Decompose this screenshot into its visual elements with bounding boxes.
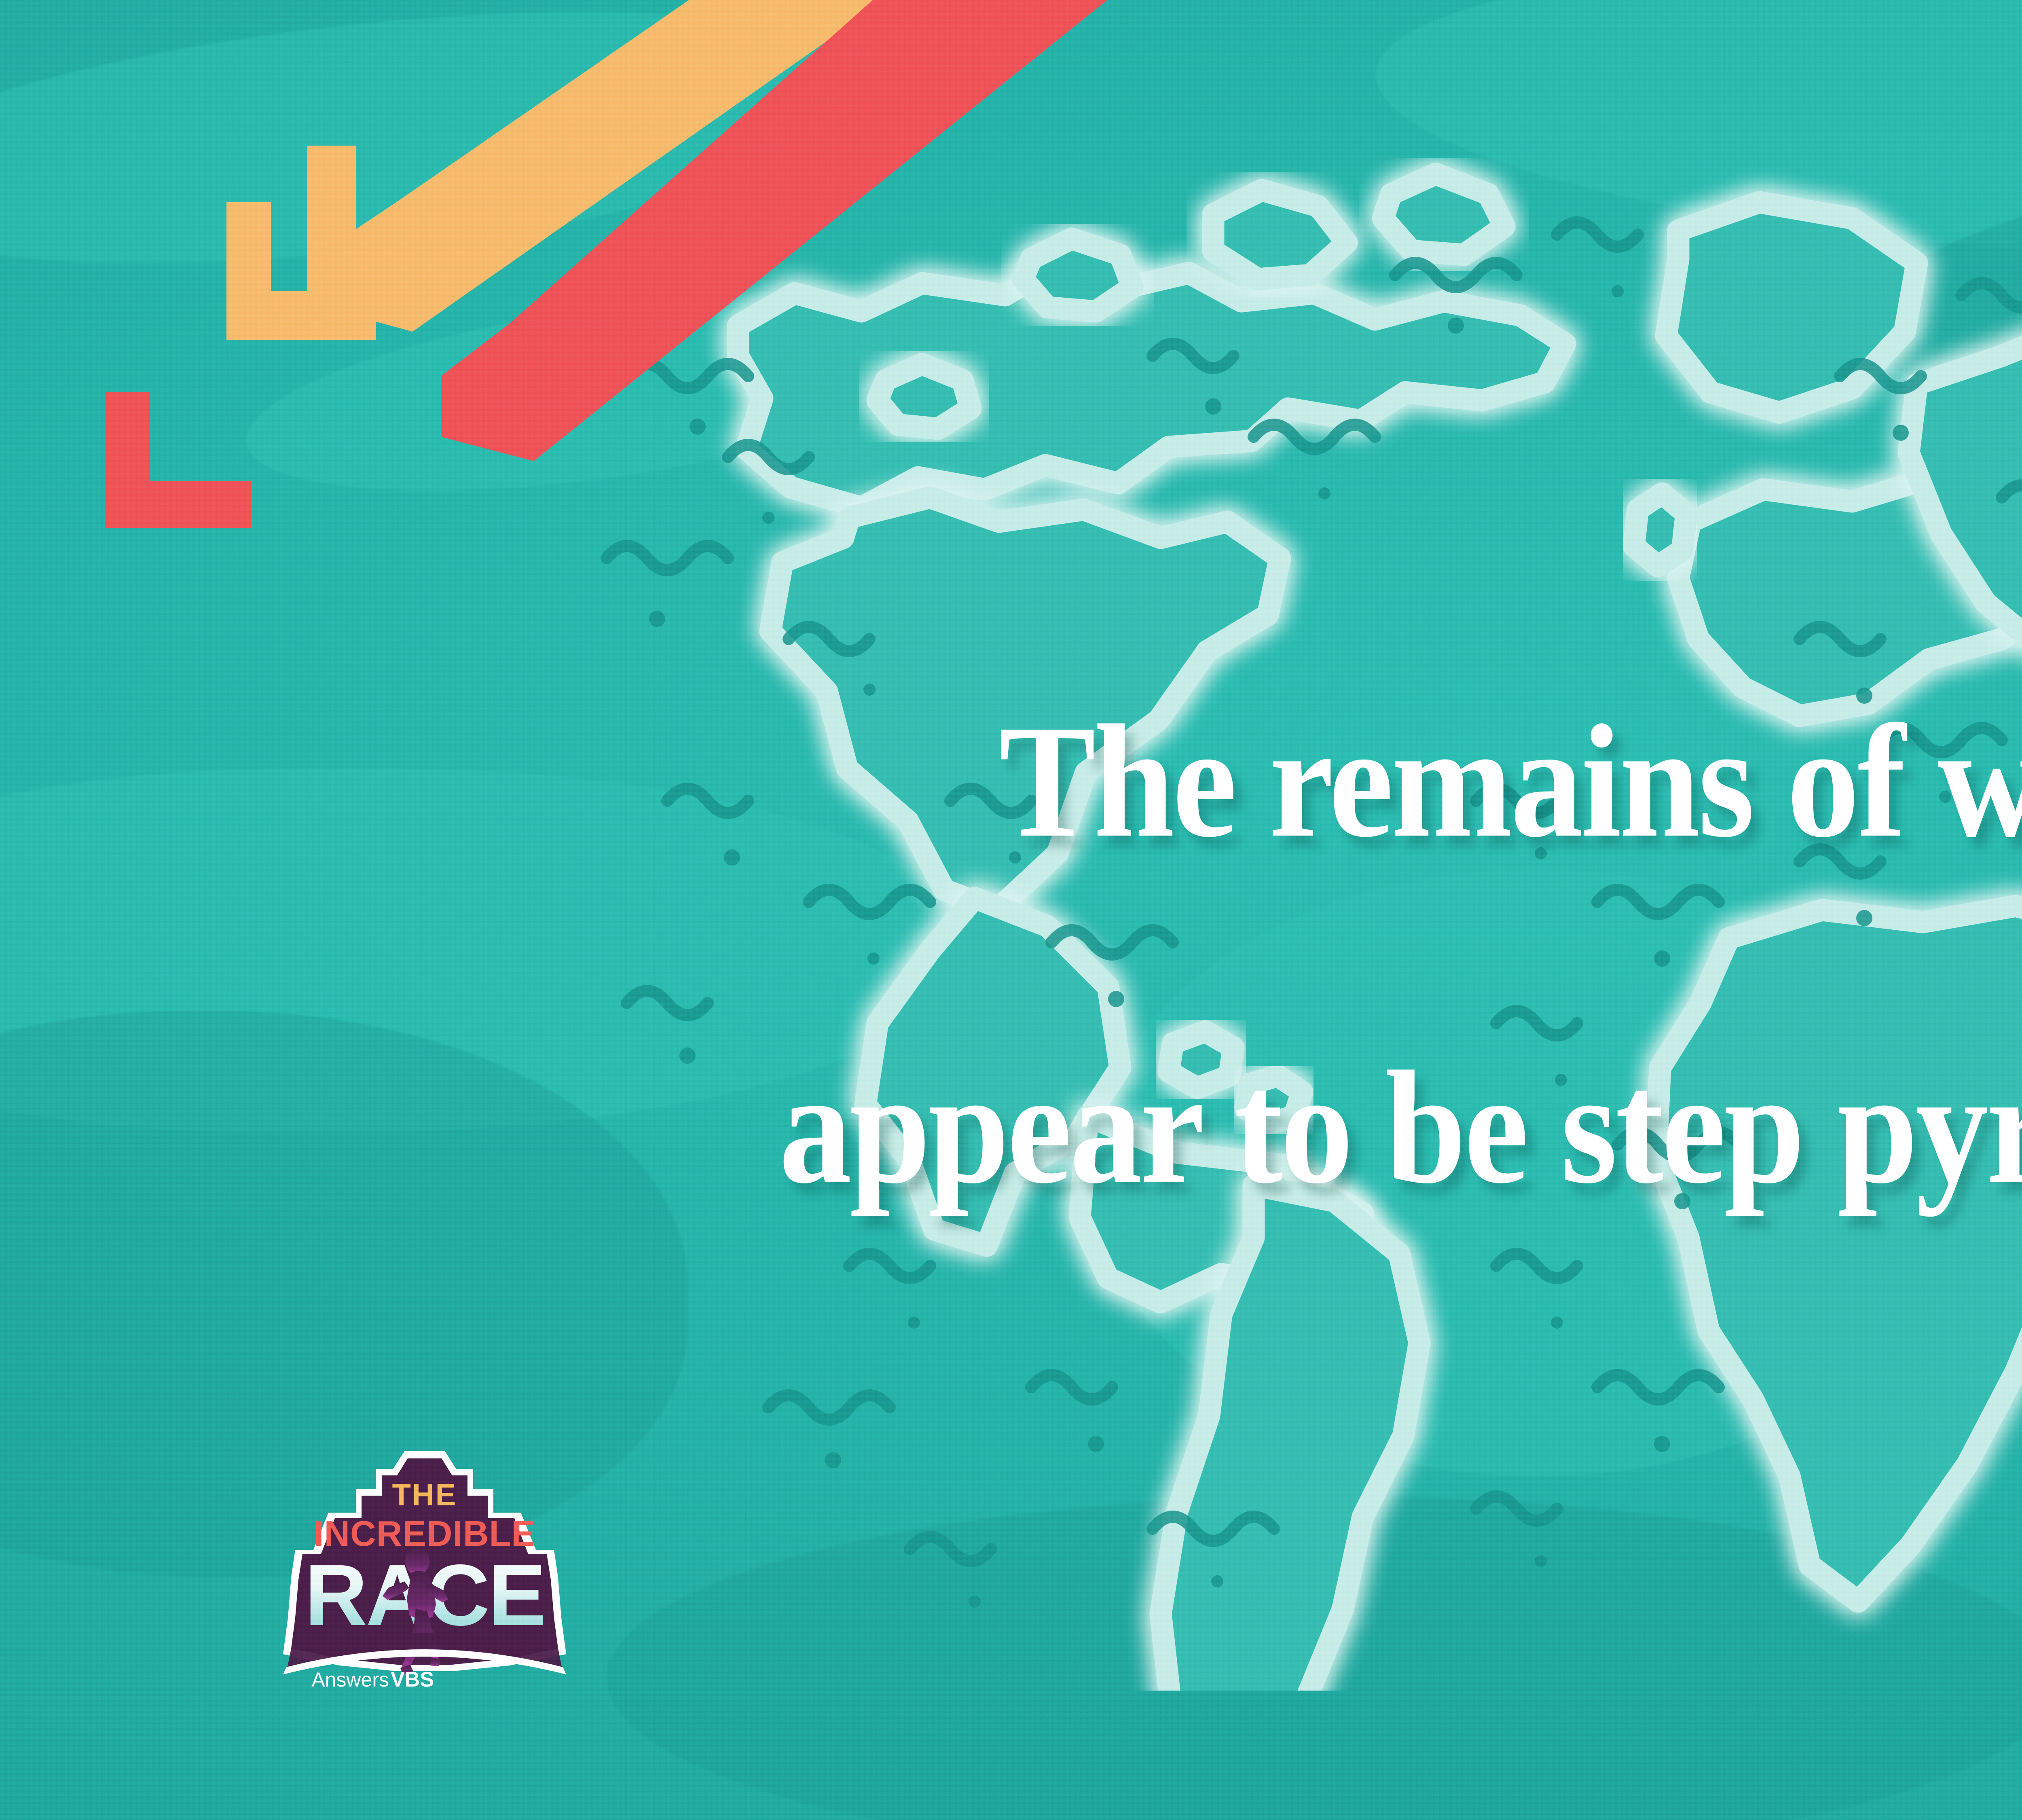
noise-speckle-overlay xyxy=(0,0,2022,1820)
slide-canvas: The remains of what appear to be step py… xyxy=(0,0,2022,1820)
